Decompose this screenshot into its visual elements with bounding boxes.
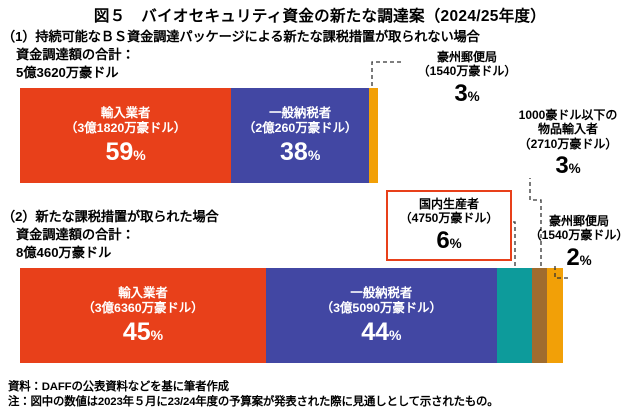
bar-segment-australia-post-1[interactable] [369,88,378,183]
bar-segment-importers-2[interactable]: 輸入業者 （3億6360万豪ドル） 45% [20,268,266,363]
callout-australia-post-2: 豪州郵便局 （1540万豪ドル） 2% [520,214,638,270]
bar-segment-general-taxpayers-2[interactable]: 一般納税者 （3億5090万豪ドル） 44% [266,268,497,363]
callout-australia-post-1: 豪州郵便局 （1540万豪ドル） 3% [408,50,526,106]
callout-name: 国内生産者 [390,197,508,211]
segment-label-amount: （3億6360万豪ドル） [82,301,203,316]
bar-segment-domestic-producers-2[interactable] [497,268,532,363]
segment-label-name: 輸入業者 [118,286,168,301]
stacked-bar-scenario-2: 輸入業者 （3億6360万豪ドル） 45% 一般納税者 （3億5090万豪ドル）… [20,268,563,363]
callout-percent: 2% [520,245,638,270]
figure-canvas: 図５ バイオセキュリティ資金の新たな調達案（2024/25年度） （1）持続可能… [0,0,640,411]
bar-segment-general-taxpayers-1[interactable]: 一般納税者 （2億260万豪ドル） 38% [231,88,369,183]
section-2-total-amount: 8億460万豪ドル [16,242,111,261]
segment-label-name: 輸入業者 [101,106,151,121]
segment-label-percent: 45% [123,320,163,345]
callout-amount: （2710万豪ドル） [498,137,638,151]
segment-label-name: 一般納税者 [269,106,331,121]
segment-label-name: 一般納税者 [350,286,412,301]
bar-segment-small-goods-importers-2[interactable] [532,268,547,363]
segment-label-percent: 59% [105,140,145,165]
callout-domestic-producers: 国内生産者 （4750万豪ドル） 6% [386,190,512,261]
callout-percent: 6% [390,228,508,253]
stacked-bar-scenario-1: 輸入業者 （3億1820万豪ドル） 59% 一般納税者 （2億260万豪ドル） … [20,88,378,183]
section-2-subheading: 資金調達額の合計： [16,224,135,243]
section-1-total-amount: 5億3620万豪ドル [16,62,119,81]
callout-name-line2: 物品輸入者 [498,122,638,136]
segment-label-percent: 38% [280,140,320,165]
section-1-heading: （1）持続可能なＢＳ資金調達パッケージによる新たな課税措置が取られない場合 [2,26,480,45]
segment-label-amount: （3億5090万豪ドル） [321,301,442,316]
section-1-subheading: 資金調達額の合計： [16,44,135,63]
callout-amount: （1540万豪ドル） [520,228,638,242]
bar-segment-australia-post-2[interactable] [547,268,563,363]
callout-amount: （1540万豪ドル） [408,64,526,78]
section-2-heading: （2）新たな課税措置が取られた場合 [2,206,219,225]
figure-title: 図５ バイオセキュリティ資金の新たな調達案（2024/25年度） [0,4,640,26]
callout-name: 豪州郵便局 [520,214,638,228]
callout-percent: 3% [498,153,638,178]
segment-label-amount: （2億260万豪ドル） [243,121,357,136]
callout-amount: （4750万豪ドル） [390,211,508,225]
callout-name-line1: 1000豪ドル以下の [498,108,638,122]
footnote-source: 資料：DAFFの公表資料などを基に筆者作成 [8,378,229,394]
bar-segment-importers-1[interactable]: 輸入業者 （3億1820万豪ドル） 59% [20,88,231,183]
callout-small-goods-importers: 1000豪ドル以下の 物品輸入者 （2710万豪ドル） 3% [498,108,638,178]
segment-label-percent: 44% [361,320,401,345]
callout-name: 豪州郵便局 [408,50,526,64]
footnote-note: 注：図中の数値は2023年５月に23/24年度の予算案が発表された際に見通しとし… [8,393,499,409]
segment-label-amount: （3億1820万豪ドル） [65,121,186,136]
callout-percent: 3% [408,81,526,106]
